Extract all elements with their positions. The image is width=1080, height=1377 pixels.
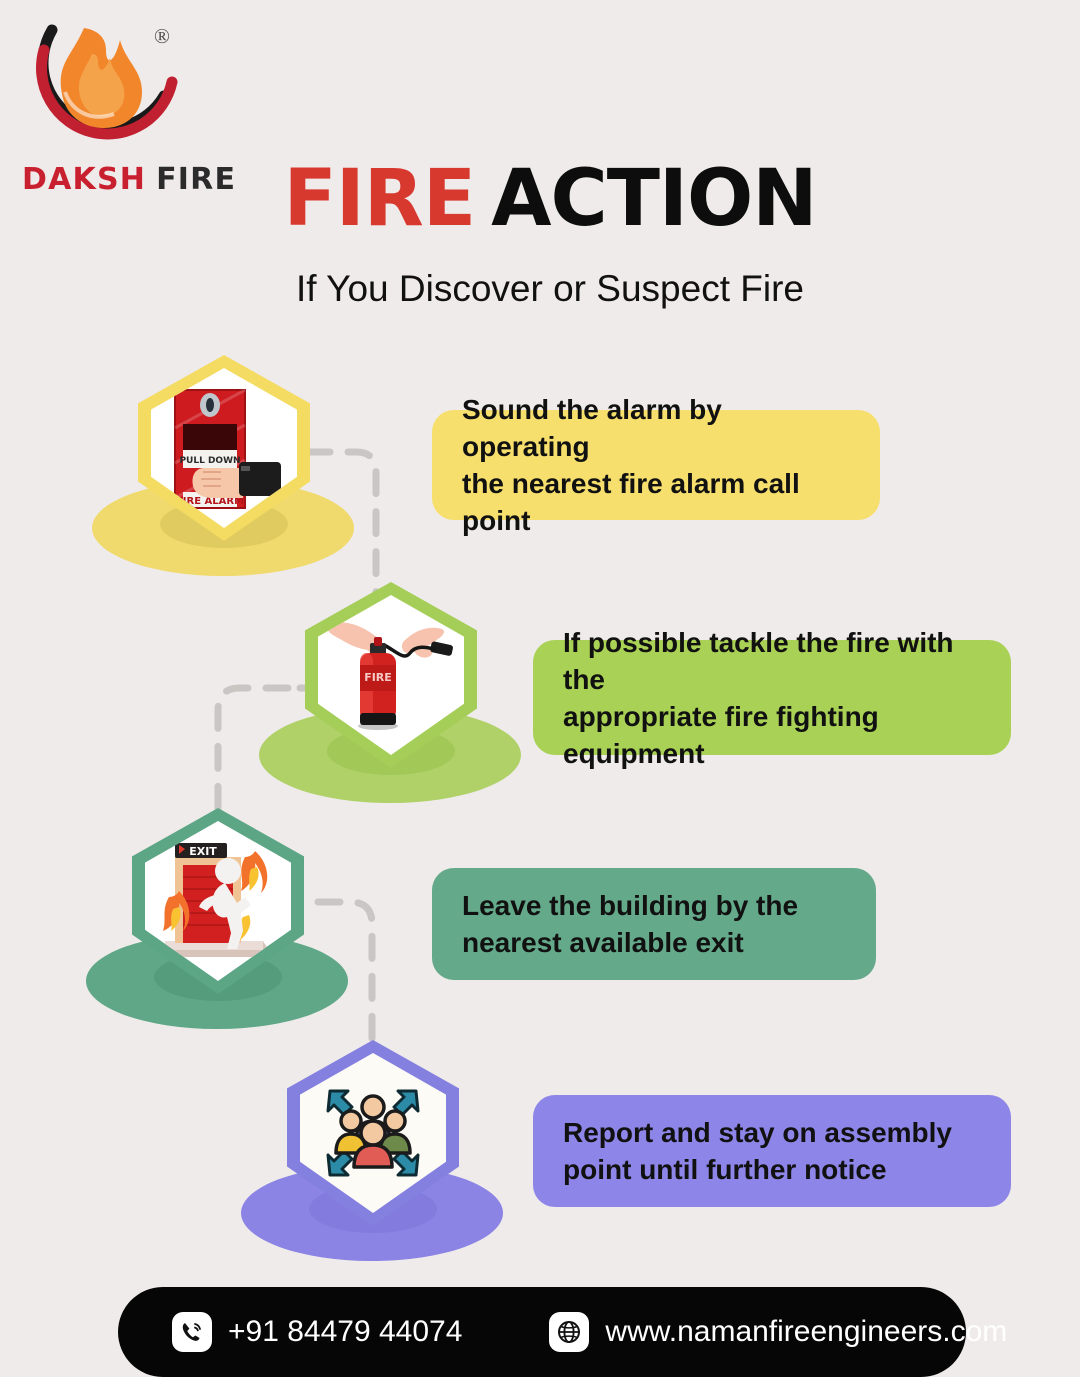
poster-canvas: ® DAKSHFIRE FIREACTION If You Discover o…: [0, 0, 1080, 1350]
step-card-4-line2: point until further notice: [563, 1151, 952, 1188]
website-contact[interactable]: www.namanfireengineers.com: [549, 1312, 1007, 1352]
brand-name-part1: DAKSH: [22, 162, 146, 197]
fire-extinguisher-icon: FIRE: [318, 595, 464, 755]
step-card-2-text: If possible tackle the fire with the app…: [563, 624, 981, 772]
step-card-4-line1: Report and stay on assembly: [563, 1114, 952, 1151]
emergency-exit-icon: EXIT: [145, 821, 291, 981]
step-card-1-text: Sound the alarm by operating the nearest…: [462, 391, 850, 539]
website-url: www.namanfireengineers.com: [605, 1315, 1007, 1349]
step-node-2[interactable]: FIRE: [283, 582, 498, 797]
globe-icon: [549, 1312, 589, 1352]
step-node-1[interactable]: PULL DOWN FIRE ALARM: [116, 355, 331, 570]
step-card-3-line2: nearest available exit: [462, 924, 798, 961]
step-card-1: Sound the alarm by operating the nearest…: [432, 410, 880, 520]
node-hexagon-inner: EXIT: [145, 821, 291, 981]
flame-in-circle-logo-icon: [14, 10, 199, 160]
step-card-3: Leave the building by the nearest availa…: [432, 868, 876, 980]
step-card-4: Report and stay on assembly point until …: [533, 1095, 1011, 1207]
svg-text:FIRE: FIRE: [364, 671, 392, 684]
step-card-2-line1: If possible tackle the fire with the: [563, 624, 981, 698]
phone-contact[interactable]: +91 84479 44074: [172, 1312, 462, 1352]
brand-name-part2: FIRE: [156, 162, 236, 197]
phone-number: +91 84479 44074: [228, 1315, 462, 1349]
svg-text:EXIT: EXIT: [189, 845, 217, 858]
assembly-point-icon: [300, 1053, 446, 1213]
node-hexagon-inner: FIRE: [318, 595, 464, 755]
page-subtitle: If You Discover or Suspect Fire: [230, 268, 870, 310]
step-node-3[interactable]: EXIT: [110, 808, 325, 1023]
page-title-rest: ACTION: [491, 154, 816, 244]
contact-footer: +91 84479 44074 www.namanfireengineers.c…: [118, 1287, 966, 1377]
page-title: FIREACTION: [250, 158, 850, 240]
node-hexagon-inner: [300, 1053, 446, 1213]
step-card-3-text: Leave the building by the nearest availa…: [462, 887, 798, 961]
step-card-2-line2: appropriate fire fighting equipment: [563, 698, 981, 772]
page-title-highlight: FIRE: [283, 154, 475, 244]
node-hexagon-inner: PULL DOWN FIRE ALARM: [151, 368, 297, 528]
brand-wordmark: DAKSHFIRE: [22, 162, 222, 197]
brand-logo: ® DAKSHFIRE: [14, 10, 229, 200]
step-node-4[interactable]: [265, 1040, 480, 1255]
svg-text:PULL DOWN: PULL DOWN: [179, 456, 240, 466]
step-card-4-text: Report and stay on assembly point until …: [563, 1114, 952, 1188]
phone-icon: [172, 1312, 212, 1352]
fire-alarm-call-point-icon: PULL DOWN FIRE ALARM: [151, 368, 297, 528]
step-card-1-line2: the nearest fire alarm call point: [462, 465, 850, 539]
step-card-1-line1: Sound the alarm by operating: [462, 391, 850, 465]
step-card-2: If possible tackle the fire with the app…: [533, 640, 1011, 755]
registered-mark: ®: [154, 24, 170, 49]
step-card-3-line1: Leave the building by the: [462, 887, 798, 924]
